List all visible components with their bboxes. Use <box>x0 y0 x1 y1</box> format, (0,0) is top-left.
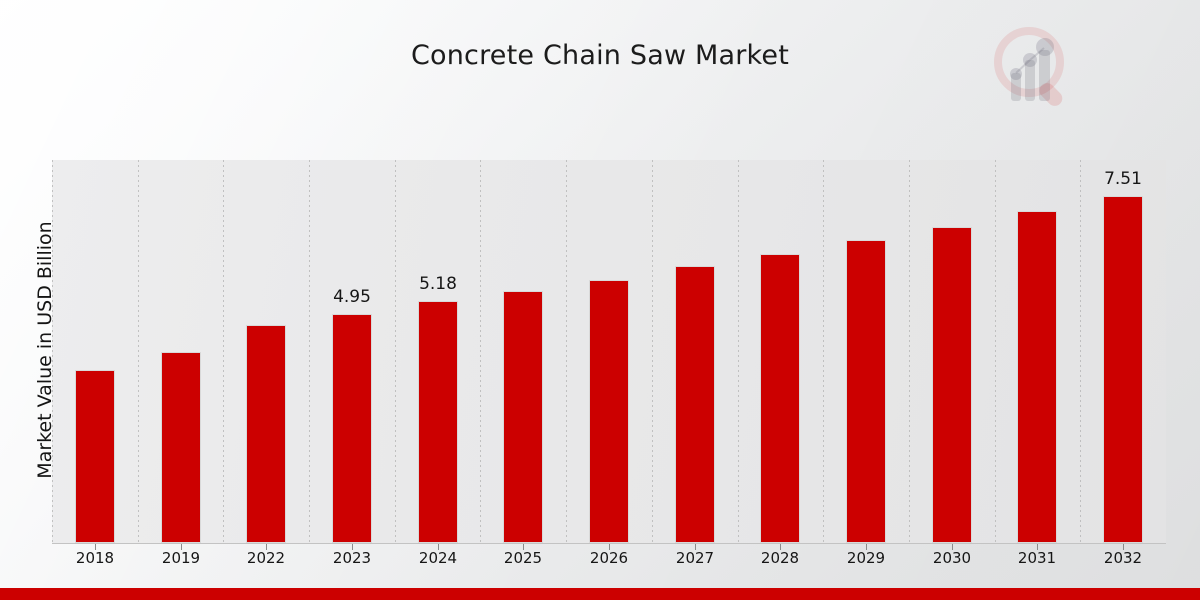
gridline <box>995 160 996 543</box>
x-tick-label-2032: 2032 <box>1078 551 1168 566</box>
gridline <box>52 160 53 543</box>
gridline <box>395 160 396 543</box>
x-tick-label-2019: 2019 <box>136 551 226 566</box>
gridline <box>652 160 653 543</box>
x-tick-label-2031: 2031 <box>992 551 1082 566</box>
gridline <box>823 160 824 543</box>
bar-2025[interactable] <box>503 291 543 543</box>
bar-2031[interactable] <box>1017 211 1057 543</box>
x-tick-label-2023: 2023 <box>307 551 397 566</box>
chart-canvas: Concrete Chain Saw Market Market Value i… <box>0 0 1200 600</box>
gridline <box>138 160 139 543</box>
bar-2028[interactable] <box>760 254 800 543</box>
bar-2018[interactable] <box>75 370 115 543</box>
bar-value-label-2023: 4.95 <box>307 289 397 306</box>
x-tick-label-2029: 2029 <box>821 551 911 566</box>
bar-2027[interactable] <box>675 266 715 543</box>
gridline <box>480 160 481 543</box>
bar-2029[interactable] <box>846 240 886 543</box>
bar-2030[interactable] <box>932 227 972 543</box>
x-tick-label-2026: 2026 <box>564 551 654 566</box>
x-tick-label-2030: 2030 <box>907 551 997 566</box>
gridline <box>566 160 567 543</box>
gridline <box>1080 160 1081 543</box>
x-tick-label-2018: 2018 <box>50 551 140 566</box>
bar-2024[interactable] <box>418 301 458 543</box>
gridline <box>909 160 910 543</box>
bottom-banner <box>0 588 1200 600</box>
gridline <box>309 160 310 543</box>
bar-2019[interactable] <box>161 352 201 543</box>
bar-2032[interactable] <box>1103 196 1143 543</box>
bar-value-label-2032: 7.51 <box>1078 171 1168 188</box>
bar-2023[interactable] <box>332 314 372 543</box>
bar-value-label-2024: 5.18 <box>393 276 483 293</box>
x-tick-label-2024: 2024 <box>393 551 483 566</box>
x-tick-label-2028: 2028 <box>735 551 825 566</box>
x-tick-label-2027: 2027 <box>650 551 740 566</box>
gridline <box>738 160 739 543</box>
gridline <box>223 160 224 543</box>
bar-2026[interactable] <box>589 280 629 543</box>
bar-2022[interactable] <box>246 325 286 543</box>
magnifying-glass-bar-chart-logo-icon <box>985 18 1085 118</box>
x-tick-label-2025: 2025 <box>478 551 568 566</box>
x-tick-label-2022: 2022 <box>221 551 311 566</box>
